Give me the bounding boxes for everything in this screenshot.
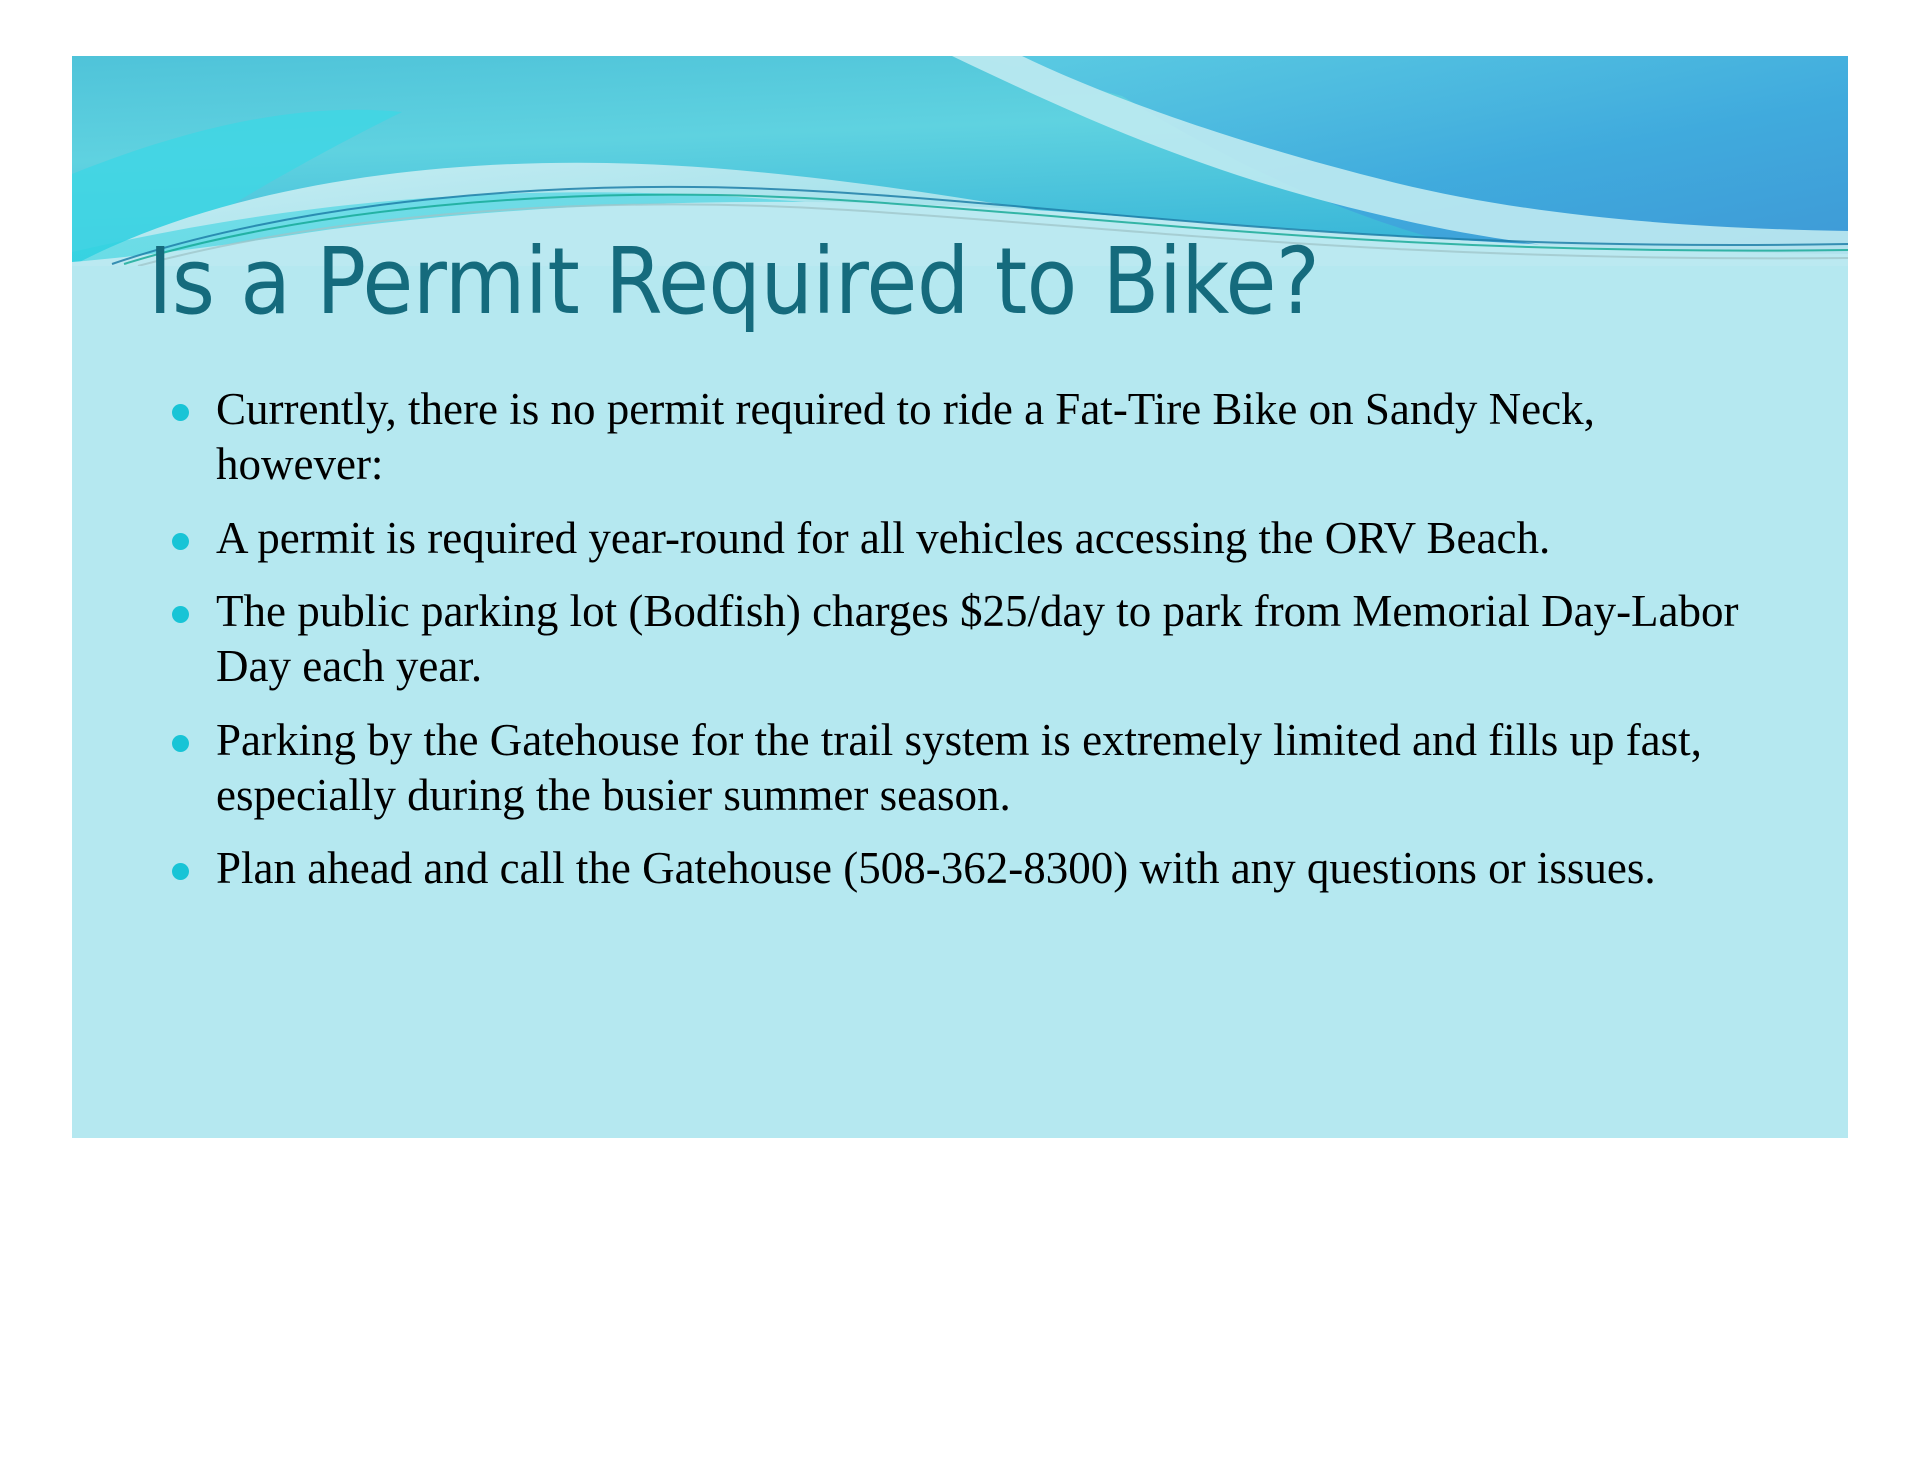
bullet-dot-icon (172, 404, 189, 421)
slide-bullet-list: Currently, there is no permit required t… (160, 382, 1770, 915)
list-item-text: The public parking lot (Bodfish) charges… (216, 584, 1770, 695)
slide-title: Is a Permit Required to Bike? (148, 234, 1788, 331)
list-item-text: Plan ahead and call the Gatehouse (508-3… (216, 841, 1770, 896)
list-item: The public parking lot (Bodfish) charges… (160, 584, 1770, 695)
bullet-dot-icon (172, 533, 189, 550)
list-item-text: Parking by the Gatehouse for the trail s… (216, 713, 1770, 824)
bullet-dot-icon (172, 735, 189, 752)
presentation-slide: Is a Permit Required to Bike? Currently,… (72, 56, 1848, 1138)
list-item-text: A permit is required year-round for all … (216, 511, 1770, 566)
list-item: A permit is required year-round for all … (160, 511, 1770, 566)
list-item: Plan ahead and call the Gatehouse (508-3… (160, 841, 1770, 896)
list-item-text: Currently, there is no permit required t… (216, 382, 1770, 493)
list-item: Parking by the Gatehouse for the trail s… (160, 713, 1770, 824)
list-item: Currently, there is no permit required t… (160, 382, 1770, 493)
bullet-dot-icon (172, 863, 189, 880)
slide-page: Is a Permit Required to Bike? Currently,… (0, 0, 1920, 1484)
bullet-dot-icon (172, 606, 189, 623)
